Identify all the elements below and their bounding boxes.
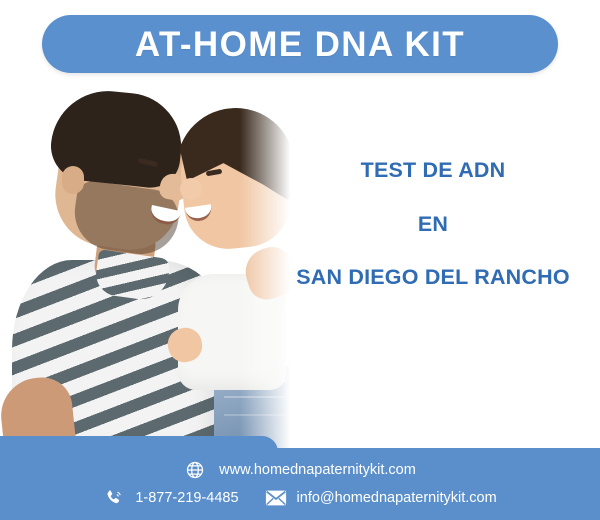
man-ear [62, 166, 84, 194]
globe-icon [184, 459, 206, 481]
family-photo [0, 78, 310, 450]
footer-phone[interactable]: 1-877-219-4485 [103, 487, 238, 509]
poster-canvas: AT-HOME DNA KIT [0, 0, 600, 520]
footer-row-website: www.homednapaternitykit.com [184, 459, 416, 481]
envelope-icon [265, 487, 287, 509]
header-title: AT-HOME DNA KIT [135, 27, 465, 62]
footer-email[interactable]: info@homednapaternitykit.com [265, 487, 497, 509]
footer-email-text: info@homednapaternitykit.com [297, 490, 497, 506]
headline-line-1: TEST DE ADN [272, 160, 594, 182]
footer-row-phone-email: 1-877-219-4485 info@homednapaternitykit.… [103, 487, 496, 509]
child-nose [180, 178, 202, 200]
phone-icon [103, 487, 125, 509]
headline-block: TEST DE ADN EN SAN DIEGO DEL RANCHO [272, 160, 594, 289]
footer-phone-text: 1-877-219-4485 [135, 490, 238, 506]
headline-line-2: EN [272, 214, 594, 236]
header-banner: AT-HOME DNA KIT [42, 15, 558, 73]
family-photo-image [0, 78, 310, 450]
headline-line-3: SAN DIEGO DEL RANCHO [272, 267, 594, 289]
footer-contact-info: www.homednapaternitykit.com 1-877-219-44… [0, 448, 600, 520]
footer-website[interactable]: www.homednapaternitykit.com [184, 459, 416, 481]
footer-website-text: www.homednapaternitykit.com [219, 462, 416, 478]
